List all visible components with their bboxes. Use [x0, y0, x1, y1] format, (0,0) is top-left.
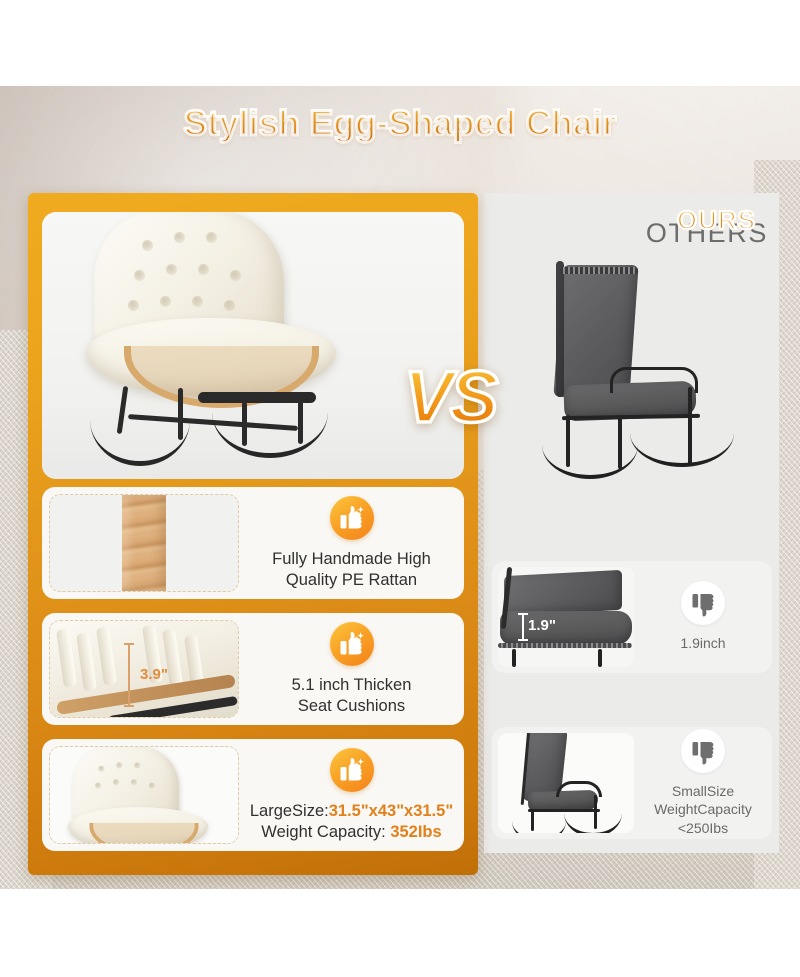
ours-feature-body-2: 5.1 inch Thicken Seat Cushions — [239, 622, 464, 717]
ours-feature-text-2: 5.1 inch Thicken Seat Cushions — [292, 675, 412, 717]
vs-badge: VS — [404, 356, 495, 439]
ours-feature-text-2-line2: Seat Cushions — [292, 696, 412, 717]
top-white-band — [0, 0, 800, 86]
others-feature-row-2: SmallSize WeightCapacity <250Ibs — [492, 727, 772, 839]
thumbs-up-icon — [330, 748, 374, 792]
others-feature-row-1: 1.9" 1.9inch — [492, 561, 772, 673]
others-feature-text-2-line3: <250Ibs — [654, 819, 752, 837]
thumbs-down-icon — [681, 729, 725, 773]
others-feature-text-2-line2: WeightCapacity — [654, 800, 752, 818]
ours-feature-text-1: Fully Handmade High Quality PE Rattan — [272, 549, 431, 591]
others-feature-text-1: 1.9inch — [680, 634, 725, 652]
ours-weight-value: 352Ibs — [390, 823, 441, 841]
others-feature-text-1-line1: 1.9inch — [680, 634, 725, 652]
ours-feature-image-3 — [49, 746, 239, 844]
cushion-thickness-photo: 3.9" — [50, 621, 238, 717]
ours-dimension-annotation-2: 3.9" — [140, 666, 168, 683]
ours-feature-text-2-line1: 5.1 inch Thicken — [292, 675, 412, 696]
ours-feature-body-1: Fully Handmade High Quality PE Rattan — [239, 496, 464, 591]
dimension-line — [128, 643, 130, 707]
ours-feature-text-1-line1: Fully Handmade High — [272, 549, 431, 570]
ours-size-label: LargeSize: — [250, 802, 329, 820]
ours-feature-row-3: LargeSize:31.5"x43"x31.5" Weight Capacit… — [42, 739, 464, 851]
chair-metal-frame — [102, 384, 348, 458]
others-feature-body-1: 1.9inch — [634, 581, 772, 652]
ours-feature-row-1: Fully Handmade High Quality PE Rattan — [42, 487, 464, 599]
ours-hero-card — [42, 212, 464, 479]
ours-size-value: 31.5"x43"x31.5" — [329, 802, 453, 820]
bottom-white-band — [0, 889, 800, 977]
thumbs-up-icon — [330, 496, 374, 540]
others-dimension-annotation-1: 1.9" — [528, 617, 556, 634]
ours-feature-image-2: 3.9" — [49, 620, 239, 718]
ours-feature-row-2: 3.9" 5.1 inch Thicken Seat Cushions — [42, 613, 464, 725]
infographic-root: Stylish Egg-Shaped Chair OTHERS 1.9" — [0, 0, 800, 977]
others-hero-chair-image — [500, 255, 770, 500]
ours-feature-text-1-line2: Quality PE Rattan — [272, 570, 431, 591]
others-feature-text-2: SmallSize WeightCapacity <250Ibs — [654, 782, 752, 837]
ours-label: OURS — [677, 205, 756, 236]
ours-feature-image-1 — [49, 494, 239, 592]
others-feature-body-2: SmallSize WeightCapacity <250Ibs — [634, 729, 772, 837]
ours-weight-line: Weight Capacity: 352Ibs — [250, 822, 453, 843]
thumbs-up-icon — [330, 622, 374, 666]
page-title: Stylish Egg-Shaped Chair — [0, 104, 800, 144]
ours-size-line: LargeSize:31.5"x43"x31.5" — [250, 801, 453, 822]
others-feature-text-2-line1: SmallSize — [654, 782, 752, 800]
ours-weight-label: Weight Capacity: — [261, 823, 390, 841]
ours-feature-body-3: LargeSize:31.5"x43"x31.5" Weight Capacit… — [239, 748, 464, 843]
ours-hero-chair-image — [64, 212, 394, 478]
others-feature-image-1: 1.9" — [498, 567, 634, 667]
thumbs-down-icon — [681, 581, 725, 625]
rattan-strip-photo — [122, 495, 166, 591]
ours-feature-text-3: LargeSize:31.5"x43"x31.5" Weight Capacit… — [250, 801, 453, 843]
others-feature-image-2 — [498, 733, 634, 833]
